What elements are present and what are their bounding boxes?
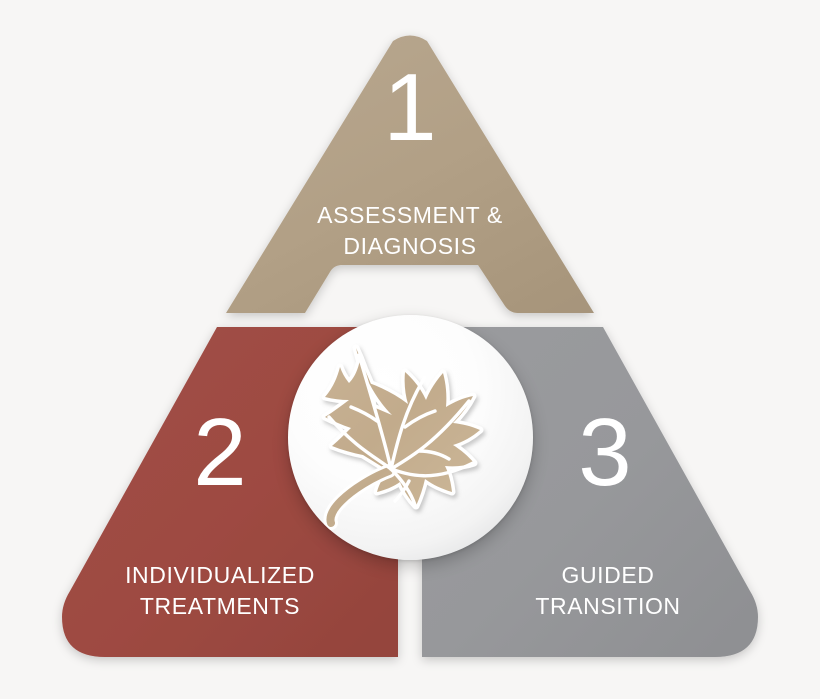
center-logo-circle[interactable]	[288, 315, 533, 560]
segment-step-1[interactable]	[226, 36, 594, 314]
diagram-canvas: 1 ASSESSMENT & DIAGNOSIS 2 INDIVIDUALIZE…	[0, 0, 820, 699]
maple-leaf-icon	[313, 343, 509, 533]
